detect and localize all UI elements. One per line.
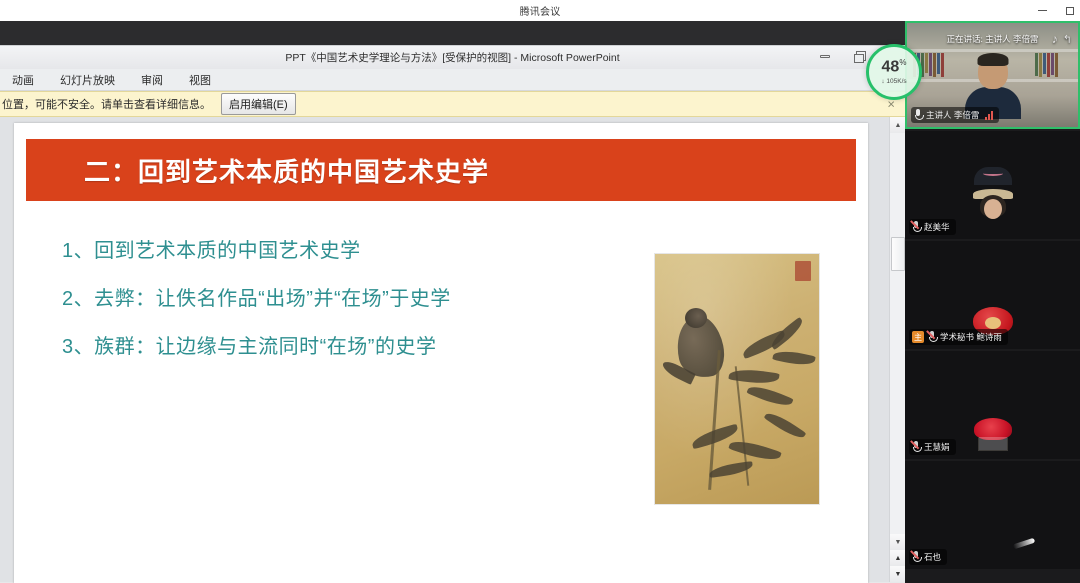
tab-view[interactable]: 视图	[185, 70, 215, 90]
tab-animations[interactable]: 动画	[8, 70, 38, 90]
network-percent-symbol: %	[899, 58, 906, 67]
powerpoint-window-controls	[817, 49, 867, 64]
painting-bird-head	[685, 308, 707, 328]
speaker-tile-footer: 主讲人 李倍雷	[911, 107, 999, 123]
minimize-icon[interactable]	[1036, 4, 1049, 17]
scroll-down-arrow-icon[interactable]: ▼	[890, 534, 906, 550]
participant-3-name: 王慧娟	[924, 441, 950, 453]
slide-bullet-3: 3、族群：让边缘与主流同时“在场”的史学	[62, 337, 642, 357]
painting-leaf-5	[746, 382, 793, 410]
video-tile-participant-1[interactable]: 赵美华	[905, 131, 1080, 239]
speaker-name-label: 主讲人 李倍雷	[926, 109, 979, 121]
powerpoint-restore-icon[interactable]	[851, 49, 867, 64]
enable-editing-button[interactable]: 启用编辑(E)	[221, 93, 296, 115]
slide-bullet-1: 1、回到艺术本质的中国艺术史学	[62, 241, 642, 261]
participant-1-name: 赵美华	[924, 221, 950, 233]
microphone-muted-icon	[928, 331, 936, 343]
network-status-badge[interactable]: 48% ↓ 105K/s	[866, 44, 922, 100]
network-percent-value: 48	[882, 58, 900, 75]
window-controls	[1036, 0, 1076, 21]
previous-slide-icon[interactable]: ▲	[890, 550, 906, 566]
slide-title: 二：回到艺术本质的中国艺术史学	[84, 152, 489, 189]
slide-canvas[interactable]: 二：回到艺术本质的中国艺术史学 1、回到艺术本质的中国艺术史学 2、去弊：让佚名…	[14, 123, 868, 583]
bookshelf-line-1	[907, 49, 1078, 52]
speaking-now-label: 正在讲话: 主讲人 李倍雷	[946, 33, 1038, 45]
next-slide-icon[interactable]: ▼	[890, 566, 906, 582]
participant-3-footer: 王慧娟	[909, 439, 956, 455]
video-tile-participant-4[interactable]: 石也	[905, 461, 1080, 569]
participant-rail: 正在讲话: 主讲人 李倍雷 ♪ ↰ 主讲人 李倍雷 赵美华	[905, 21, 1080, 583]
music-note-icon: ♪	[1052, 32, 1058, 46]
network-percent: 48%	[882, 59, 907, 75]
microphone-muted-icon	[912, 551, 920, 563]
slide-painting-image	[654, 253, 820, 505]
participant-4-footer: 石也	[909, 549, 947, 565]
slide-bullet-list: 1、回到艺术本质的中国艺术史学 2、去弊：让佚名作品“出场”并“在场”于史学 3…	[62, 241, 642, 385]
tab-slideshow[interactable]: 幻灯片放映	[56, 70, 119, 90]
protected-view-message: 位置，可能不安全。请单击查看详细信息。	[2, 96, 211, 112]
microphone-muted-icon	[912, 221, 920, 233]
video-tile-participant-2[interactable]: 主 学术秘书 鲍诗雨	[905, 241, 1080, 349]
powerpoint-ribbon-tabs: 动画 幻灯片放映 审阅 视图	[0, 69, 905, 91]
participant-2-name: 学术秘书 鲍诗雨	[940, 331, 1002, 343]
slide-bullet-2: 2、去弊：让佚名作品“出场”并“在场”于史学	[62, 289, 642, 309]
slide-work-area: 二：回到艺术本质的中国艺术史学 1、回到艺术本质的中国艺术史学 2、去弊：让佚名…	[0, 117, 905, 582]
painting-leaf-9	[764, 409, 807, 443]
scrollbar-thumb[interactable]	[891, 237, 905, 271]
powerpoint-title: PPT《中国艺术史学理论与方法》[受保护的视图] - Microsoft Pow…	[285, 50, 619, 65]
video-tile-participant-3[interactable]: 王慧娟	[905, 351, 1080, 459]
maximize-icon[interactable]	[1063, 4, 1076, 17]
participant-1-footer: 赵美华	[909, 219, 956, 235]
microphone-icon	[914, 109, 922, 121]
video-tile-active-speaker[interactable]: 正在讲话: 主讲人 李倍雷 ♪ ↰ 主讲人 李倍雷	[905, 21, 1080, 129]
speaker-tile-icons: ♪ ↰	[1052, 32, 1072, 46]
audio-level-icon	[985, 111, 993, 120]
share-arrow-icon: ↰	[1063, 33, 1072, 46]
app-titlebar: 腾讯会议	[0, 0, 1080, 21]
tab-review[interactable]: 审阅	[137, 70, 167, 90]
powerpoint-window: PPT《中国艺术史学理论与方法》[受保护的视图] - Microsoft Pow…	[0, 45, 905, 583]
powerpoint-titlebar: PPT《中国艺术史学理论与方法》[受保护的视图] - Microsoft Pow…	[0, 46, 905, 69]
scroll-up-arrow-icon[interactable]: ▲	[890, 117, 906, 133]
slide-vertical-scrollbar[interactable]: ▲ ▼ ▲ ▼	[889, 117, 905, 582]
host-badge: 主	[912, 331, 924, 343]
app-title: 腾讯会议	[520, 3, 561, 18]
powerpoint-minimize-icon[interactable]	[817, 49, 833, 64]
tencent-meeting-screen-share-window: 腾讯会议 PPT《中国艺术史学理论与方法》[受保护的视图] - Microsof…	[0, 0, 1080, 583]
painting-leaf-3	[772, 348, 816, 368]
slide-title-band: 二：回到艺术本质的中国艺术史学	[26, 139, 856, 201]
participant-4-name: 石也	[924, 551, 941, 563]
protected-view-bar: 位置，可能不安全。请单击查看详细信息。 启用编辑(E) ×	[0, 91, 905, 117]
participant-2-footer: 主 学术秘书 鲍诗雨	[909, 329, 1008, 345]
seal-stamp-icon	[795, 261, 811, 281]
painting-leaf-7	[728, 436, 781, 464]
speaker-hair	[977, 53, 1008, 66]
microphone-muted-icon	[912, 441, 920, 453]
books-group-right	[1035, 53, 1058, 77]
network-speed-label: ↓ 105K/s	[881, 78, 906, 85]
